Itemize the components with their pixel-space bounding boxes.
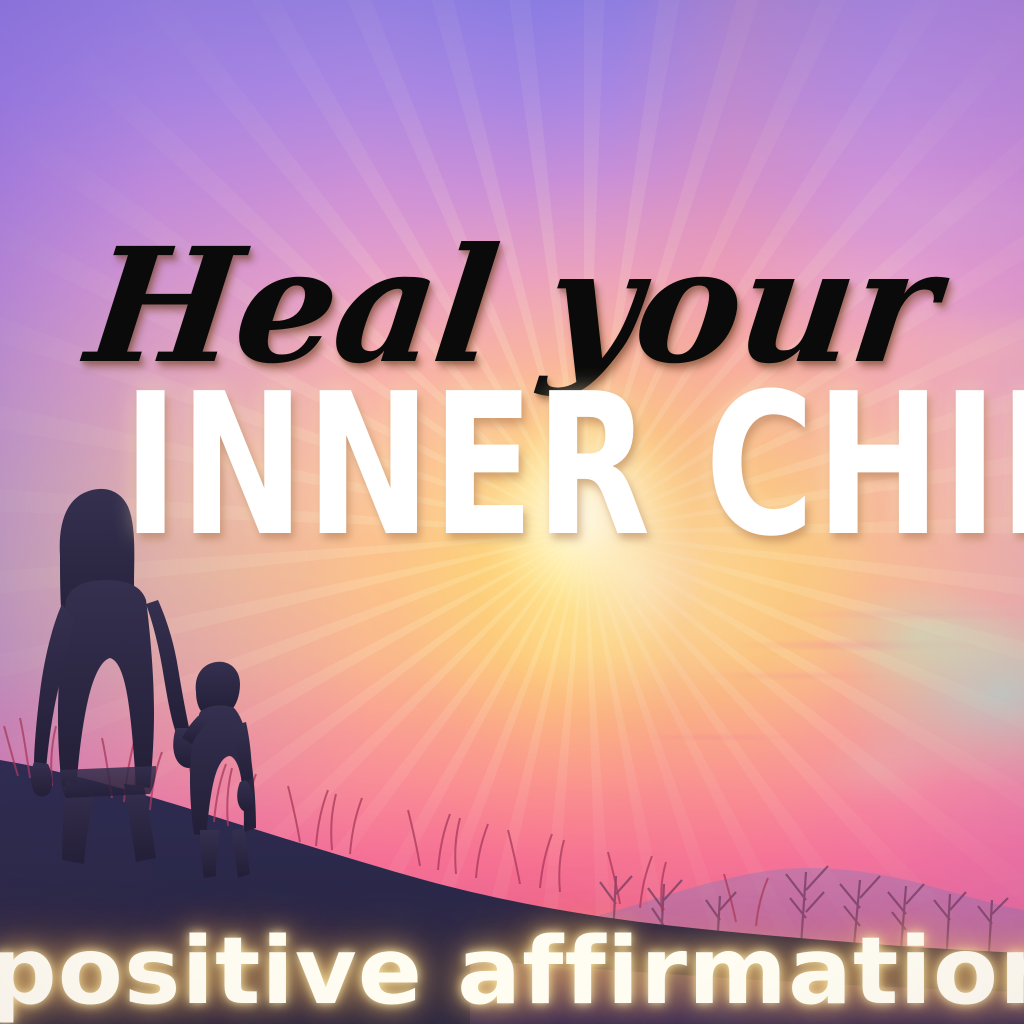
subtitle-text: positive affirmations [0,925,1024,1018]
title-headline-line: INNER CHILD [123,376,901,556]
album-cover: Heal your INNER CHILD positive affirmati… [0,0,1024,1024]
title-block: Heal your INNER CHILD [0,232,1024,556]
subtitle-block: positive affirmations [0,925,1024,1018]
